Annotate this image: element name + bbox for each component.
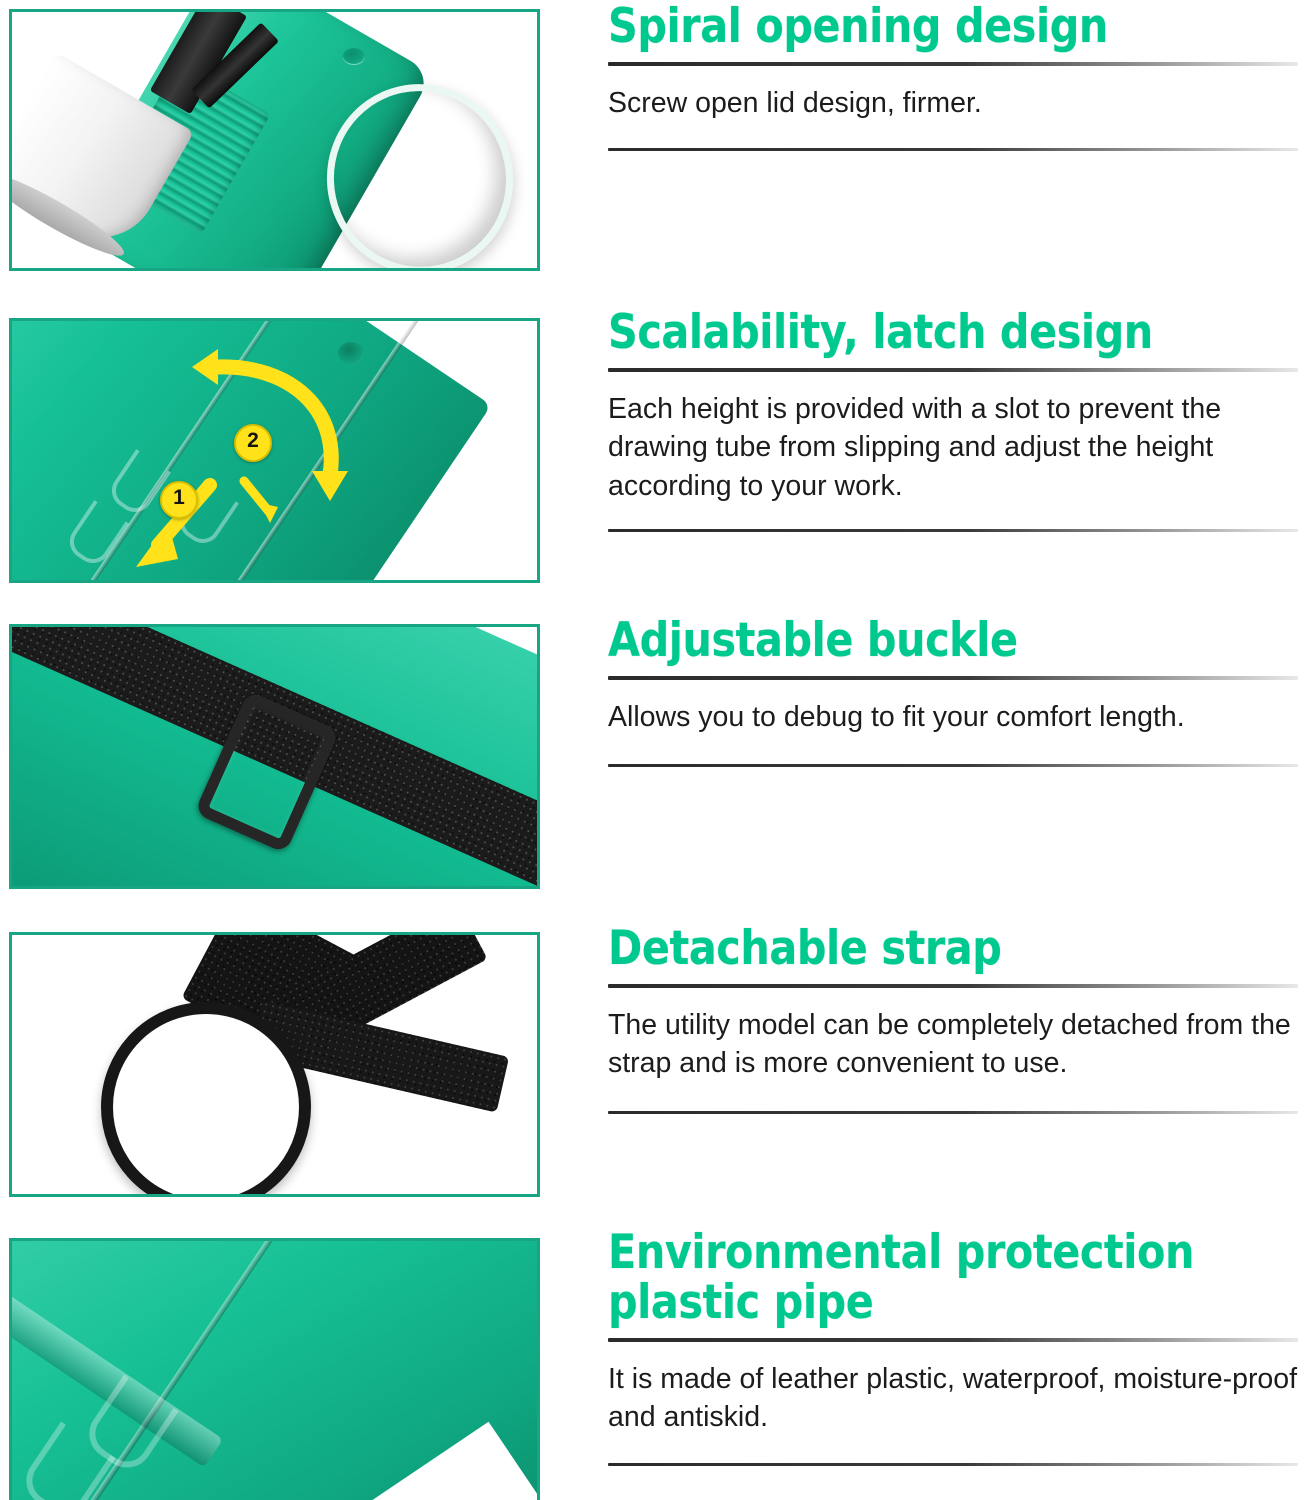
feature-text-plastic-pipe: Environmental protection plastic pipe It… bbox=[608, 1228, 1298, 1466]
feature-text-adjustable-buckle: Adjustable buckle Allows you to debug to… bbox=[608, 616, 1298, 767]
plastic-pipe-photo bbox=[12, 1241, 537, 1500]
feature-description: Each height is provided with a slot to p… bbox=[608, 390, 1298, 505]
section-rule bbox=[608, 1111, 1298, 1114]
section-rule bbox=[608, 529, 1298, 532]
headline-rule bbox=[608, 1338, 1298, 1342]
detachable-strap-photo bbox=[12, 935, 537, 1194]
feature-description: The utility model can be completely deta… bbox=[608, 1006, 1298, 1083]
feature-image-panel-latch-design: 2 1 bbox=[9, 318, 540, 583]
headline-rule bbox=[608, 676, 1298, 680]
feature-text-spiral-opening: Spiral opening design Screw open lid des… bbox=[608, 2, 1298, 151]
feature-image-panel-plastic-pipe bbox=[9, 1238, 540, 1500]
feature-image-panel-spiral-opening bbox=[9, 9, 540, 271]
latch-design-photo: 2 1 bbox=[12, 321, 537, 580]
infographic-sheet: Spiral opening design Screw open lid des… bbox=[0, 0, 1313, 1500]
headline-rule bbox=[608, 984, 1298, 988]
feature-headline: Spiral opening design bbox=[608, 2, 1215, 52]
adjustable-buckle-photo bbox=[12, 627, 537, 886]
tube-dimple bbox=[343, 48, 365, 64]
feature-description: It is made of leather plastic, waterproo… bbox=[608, 1360, 1298, 1437]
section-rule bbox=[608, 1463, 1298, 1466]
slot-pointer-arrow-icon bbox=[234, 473, 294, 533]
feature-image-panel-detachable-strap bbox=[9, 932, 540, 1197]
feature-image-panel-adjustable-buckle bbox=[9, 624, 540, 889]
feature-text-detachable-strap: Detachable strap The utility model can b… bbox=[608, 924, 1298, 1114]
headline-rule bbox=[608, 368, 1298, 372]
feature-description: Allows you to debug to fit your comfort … bbox=[608, 698, 1298, 736]
feature-description: Screw open lid design, firmer. bbox=[608, 84, 1298, 122]
spiral-opening-photo bbox=[12, 12, 537, 268]
feature-text-latch-design: Scalability, latch design Each height is… bbox=[608, 308, 1298, 532]
feature-headline: Adjustable buckle bbox=[608, 616, 1215, 666]
section-rule bbox=[608, 148, 1298, 151]
callout-badge-1: 1 bbox=[160, 481, 198, 519]
headline-rule bbox=[608, 62, 1298, 66]
feature-headline: Detachable strap bbox=[608, 924, 1215, 974]
feature-headline: Environmental protection plastic pipe bbox=[608, 1228, 1215, 1328]
section-rule bbox=[608, 764, 1298, 767]
callout-badge-2: 2 bbox=[234, 424, 272, 462]
feature-headline: Scalability, latch design bbox=[608, 308, 1215, 358]
